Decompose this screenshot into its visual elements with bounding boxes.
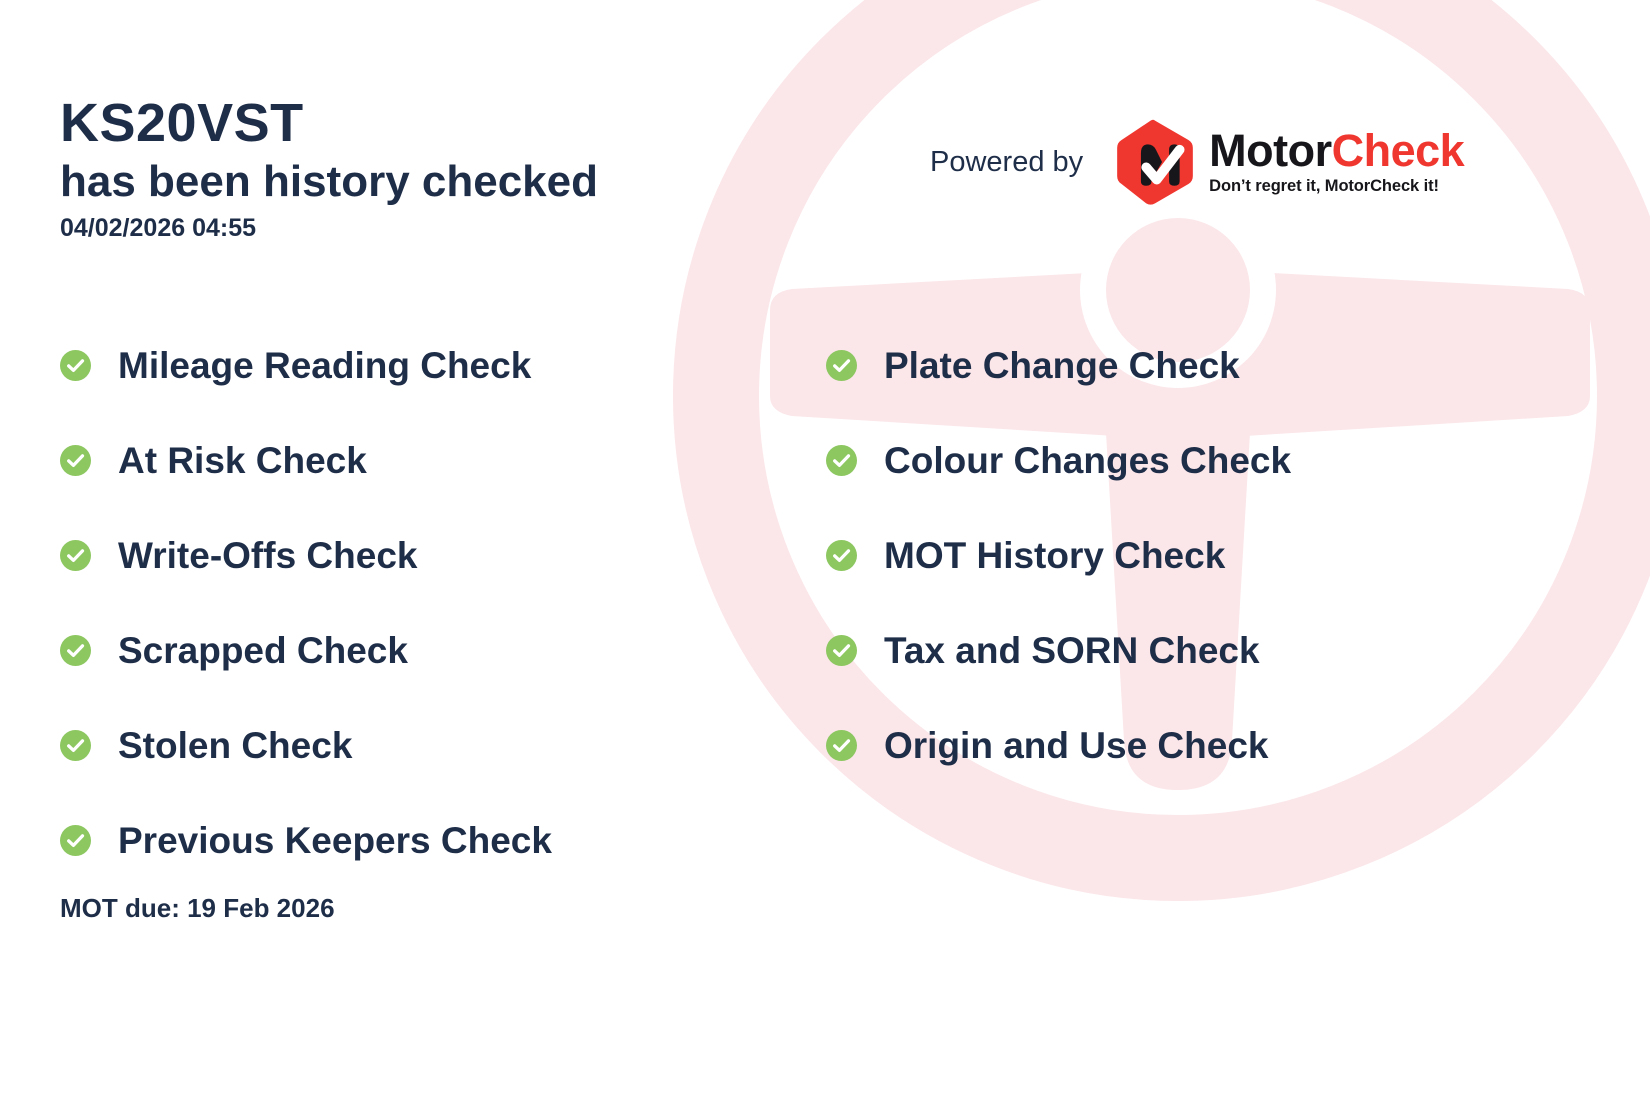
check-item-colour-changes: Colour Changes Check — [826, 413, 1590, 508]
check-label: At Risk Check — [118, 442, 367, 479]
check-label: Stolen Check — [118, 727, 352, 764]
motorcheck-wordmark-block: MotorCheck Don’t regret it, MotorCheck i… — [1209, 128, 1464, 196]
check-circle-icon — [60, 540, 91, 571]
check-item-write-offs: Write-Offs Check — [60, 508, 824, 603]
check-item-mileage-reading: Mileage Reading Check — [60, 318, 824, 413]
checks-column-left: Mileage Reading Check At Risk Check Writ… — [60, 318, 824, 888]
motorcheck-wordmark: MotorCheck — [1209, 128, 1464, 173]
wordmark-motor: Motor — [1209, 125, 1331, 176]
motorcheck-tagline: Don’t regret it, MotorCheck it! — [1209, 177, 1464, 196]
check-circle-icon — [60, 825, 91, 856]
check-label: Origin and Use Check — [884, 727, 1269, 764]
check-item-previous-keepers: Previous Keepers Check — [60, 793, 824, 888]
check-label: Plate Change Check — [884, 347, 1240, 384]
check-item-scrapped: Scrapped Check — [60, 603, 824, 698]
check-circle-icon — [826, 540, 857, 571]
powered-by-block: Powered by MotorCheck Don’t regret it, M… — [930, 118, 1464, 206]
wordmark-check: Check — [1332, 125, 1465, 176]
motorcheck-hexagon-icon — [1111, 118, 1199, 206]
check-item-plate-change: Plate Change Check — [826, 318, 1590, 413]
check-circle-icon — [826, 730, 857, 761]
history-check-summary-card: KS20VST has been history checked 04/02/2… — [0, 0, 1650, 1100]
check-item-tax-and-sorn: Tax and SORN Check — [826, 603, 1590, 698]
mot-due-text: MOT due: 19 Feb 2026 — [60, 893, 335, 924]
vehicle-registration: KS20VST — [60, 96, 598, 150]
checks-column-right: Plate Change Check Colour Changes Check … — [824, 318, 1590, 888]
check-circle-icon — [60, 350, 91, 381]
check-item-at-risk: At Risk Check — [60, 413, 824, 508]
check-circle-icon — [60, 730, 91, 761]
check-label: Previous Keepers Check — [118, 822, 552, 859]
check-label: Write-Offs Check — [118, 537, 418, 574]
check-label: Scrapped Check — [118, 632, 408, 669]
check-circle-icon — [826, 350, 857, 381]
check-label: Mileage Reading Check — [118, 347, 531, 384]
motorcheck-logo[interactable]: MotorCheck Don’t regret it, MotorCheck i… — [1111, 118, 1464, 206]
check-label: MOT History Check — [884, 537, 1225, 574]
check-item-origin-and-use: Origin and Use Check — [826, 698, 1590, 793]
check-item-mot-history: MOT History Check — [826, 508, 1590, 603]
check-circle-icon — [826, 445, 857, 476]
check-circle-icon — [60, 445, 91, 476]
page-title: has been history checked — [60, 156, 598, 208]
powered-by-label: Powered by — [930, 146, 1083, 179]
check-label: Tax and SORN Check — [884, 632, 1260, 669]
header-block: KS20VST has been history checked 04/02/2… — [60, 96, 598, 243]
checks-grid: Mileage Reading Check At Risk Check Writ… — [60, 318, 1590, 888]
check-item-stolen: Stolen Check — [60, 698, 824, 793]
check-timestamp: 04/02/2026 04:55 — [60, 214, 598, 243]
check-circle-icon — [826, 635, 857, 666]
check-label: Colour Changes Check — [884, 442, 1291, 479]
check-circle-icon — [60, 635, 91, 666]
